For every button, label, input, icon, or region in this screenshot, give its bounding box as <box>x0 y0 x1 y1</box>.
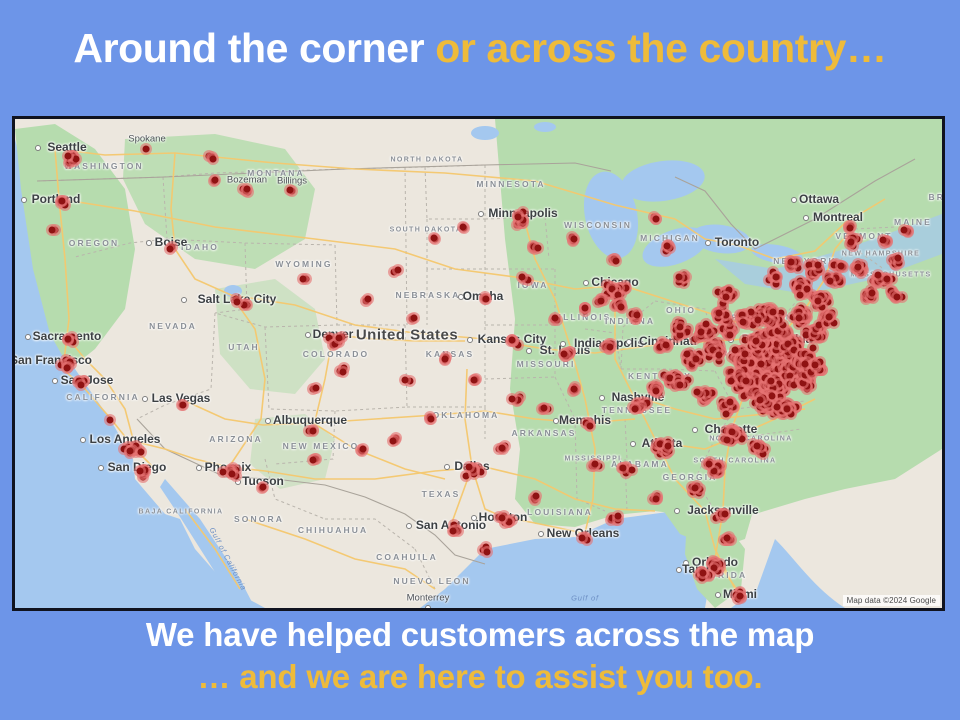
map-customer-pin[interactable] <box>705 461 712 468</box>
map-customer-pin[interactable] <box>711 565 718 572</box>
map-customer-pin[interactable] <box>721 510 728 517</box>
map-city-dot <box>305 332 311 338</box>
map-city-dot <box>471 515 477 521</box>
map-customer-pin[interactable] <box>515 213 522 220</box>
map-customer-pin[interactable] <box>814 297 821 304</box>
map-customer-pin[interactable] <box>848 239 855 246</box>
map-customer-pin[interactable] <box>831 320 838 327</box>
map-customer-pin[interactable] <box>722 294 729 301</box>
map-customer-pin[interactable] <box>64 336 71 343</box>
map-customer-pin[interactable] <box>657 440 664 447</box>
map-customer-pin[interactable] <box>551 315 558 322</box>
map-customer-pin[interactable] <box>684 351 691 358</box>
map-customer-pin[interactable] <box>741 393 748 400</box>
map-customer-pin[interactable] <box>727 378 734 385</box>
map-customer-pin[interactable] <box>790 382 797 389</box>
map-customer-pin[interactable] <box>534 244 541 251</box>
map-customer-pin[interactable] <box>505 519 512 526</box>
map-customer-pin[interactable] <box>728 429 735 436</box>
map-customer-pin[interactable] <box>628 467 635 474</box>
map-customer-pin[interactable] <box>774 327 781 334</box>
map-customer-pin[interactable] <box>697 328 704 335</box>
map-customer-pin[interactable] <box>462 472 469 479</box>
map-city-dot <box>98 465 104 471</box>
map-customer-pin[interactable] <box>310 456 317 463</box>
map-customer-pin[interactable] <box>665 442 672 449</box>
map-customer-pin[interactable] <box>760 450 767 457</box>
map-customer-pin[interactable] <box>693 389 700 396</box>
map-customer-pin[interactable] <box>260 484 267 491</box>
map-customer-pin[interactable] <box>515 397 522 404</box>
map-customer-pin[interactable] <box>608 285 615 292</box>
map-city-dot <box>181 297 187 303</box>
map-customer-pin[interactable] <box>478 468 485 475</box>
map-customer-pin[interactable] <box>741 351 748 358</box>
map-customer-pin[interactable] <box>901 227 908 234</box>
map-customer-pin[interactable] <box>778 309 785 316</box>
map-customer-pin[interactable] <box>769 384 776 391</box>
map-customer-pin[interactable] <box>126 448 133 455</box>
map-customer-pin[interactable] <box>893 293 900 300</box>
map-customer-pin[interactable] <box>676 382 683 389</box>
map-customer-pin[interactable] <box>229 471 236 478</box>
map-customer-pin[interactable] <box>716 310 723 317</box>
map-customer-pin[interactable] <box>652 216 659 223</box>
map-customer-pin[interactable] <box>615 292 622 299</box>
map-customer-pin[interactable] <box>724 437 731 444</box>
map-customer-pin[interactable] <box>722 410 729 417</box>
map-customer-pin[interactable] <box>471 376 478 383</box>
map-customer-pin[interactable] <box>784 406 791 413</box>
map-customer-pin[interactable] <box>795 285 802 292</box>
map-customer-pin[interactable] <box>541 405 548 412</box>
map-customer-pin[interactable] <box>582 304 589 311</box>
map-city-dot <box>599 395 605 401</box>
map-customer-pin[interactable] <box>137 449 144 456</box>
map-customer-pin[interactable] <box>740 357 747 364</box>
map-customer-pin[interactable] <box>498 445 505 452</box>
map-customer-pin[interactable] <box>466 464 473 471</box>
map-customer-pin[interactable] <box>755 316 762 323</box>
map-customer-pin[interactable] <box>710 468 717 475</box>
map-customer-pin[interactable] <box>879 237 886 244</box>
map-customer-pin[interactable] <box>837 262 844 269</box>
map-customer-pin[interactable] <box>884 275 891 282</box>
map-customer-pin[interactable] <box>313 384 320 391</box>
map-customer-pin[interactable] <box>776 381 783 388</box>
map-city-dot <box>142 396 148 402</box>
map-customer-pin[interactable] <box>747 309 754 316</box>
map-city-dot <box>583 280 589 286</box>
map-city-dot <box>692 427 698 433</box>
map-customer-pin[interactable] <box>784 340 791 347</box>
map-customer-pin[interactable] <box>753 442 760 449</box>
map-customer-pin[interactable] <box>401 376 408 383</box>
map-customer-pin[interactable] <box>723 535 730 542</box>
map-customer-pin[interactable] <box>212 177 219 184</box>
map-customer-pin[interactable] <box>802 332 809 339</box>
map-customer-pin[interactable] <box>78 382 85 389</box>
map-customer-pin[interactable] <box>633 312 640 319</box>
map-customer-pin[interactable] <box>814 262 821 269</box>
map-customer-pin[interactable] <box>59 197 66 204</box>
map-customer-pin[interactable] <box>664 242 671 249</box>
map-customer-pin[interactable] <box>299 276 306 283</box>
headline-gold-part: or across the country… <box>435 25 886 71</box>
map-customer-pin[interactable] <box>483 295 490 302</box>
map-customer-pin[interactable] <box>219 468 226 475</box>
map-customer-pin[interactable] <box>460 223 467 230</box>
map-city-dot <box>626 339 632 345</box>
map-customer-pin[interactable] <box>773 404 780 411</box>
map-customer-pin[interactable] <box>727 332 734 339</box>
map-customer-pin[interactable] <box>740 319 747 326</box>
map-customer-pin[interactable] <box>739 312 746 319</box>
map-customer-pin[interactable] <box>773 273 780 280</box>
map-customer-pin[interactable] <box>709 389 716 396</box>
map-customer-pin[interactable] <box>309 427 316 434</box>
footer-text-block: We have helped customers across the map … <box>0 614 960 698</box>
map-customer-pin[interactable] <box>442 355 449 362</box>
map-customer-pin[interactable] <box>532 493 539 500</box>
map-customer-pin[interactable] <box>854 263 861 270</box>
map-customer-pin[interactable] <box>737 592 744 599</box>
map-customer-pin[interactable] <box>509 396 516 403</box>
footer-line-2: … and we are here to assist you too. <box>0 656 960 698</box>
map-customer-pin[interactable] <box>748 360 755 367</box>
map-customer-pin[interactable] <box>623 285 630 292</box>
map-customer-pin[interactable] <box>48 226 55 233</box>
map-customer-pin[interactable] <box>234 298 241 305</box>
map-customer-pin[interactable] <box>700 569 707 576</box>
map-city-dot <box>235 479 241 485</box>
map-city-dot <box>196 465 202 471</box>
map-customer-pin[interactable] <box>652 388 659 395</box>
map-customer-pin[interactable] <box>704 327 711 334</box>
map-customer-pin[interactable] <box>819 303 826 310</box>
map-attribution: Map data ©2024 Google <box>843 595 940 606</box>
map-city-dot <box>458 294 464 300</box>
map-customer-pin[interactable] <box>677 331 684 338</box>
map-customer-pin[interactable] <box>773 280 780 287</box>
map-customer-pin[interactable] <box>796 314 803 321</box>
map-city-dot <box>35 145 41 151</box>
slide: Around the corner or across the country… <box>0 0 960 720</box>
map-customer-pin[interactable] <box>607 344 614 351</box>
map-customer-pin[interactable] <box>800 380 807 387</box>
map-customer-pin[interactable] <box>723 311 730 318</box>
map-customer-pin[interactable] <box>72 156 79 163</box>
map-city-dot <box>478 211 484 217</box>
map-customer-pin[interactable] <box>578 535 585 542</box>
map-customer-pin[interactable] <box>868 290 875 297</box>
map-customer-pin[interactable] <box>875 272 882 279</box>
map-customer-pin[interactable] <box>666 374 673 381</box>
map-customer-pin[interactable] <box>753 337 760 344</box>
map-customer-pin[interactable] <box>287 186 294 193</box>
map-customer-pin[interactable] <box>483 549 490 556</box>
map-customer-pin[interactable] <box>394 266 401 273</box>
map-customer-pin[interactable] <box>498 514 505 521</box>
map-customer-pin[interactable] <box>769 392 776 399</box>
map-customer-pin[interactable] <box>65 152 72 159</box>
map-customer-pin[interactable] <box>738 436 745 443</box>
map-customer-pin[interactable] <box>816 322 823 329</box>
map-customer-pin[interactable] <box>359 446 366 453</box>
map-customer-pin[interactable] <box>827 278 834 285</box>
map-customer-pin[interactable] <box>692 356 699 363</box>
map-customer-pin[interactable] <box>63 365 70 372</box>
map-customer-pin[interactable] <box>826 314 833 321</box>
map-customer-pin[interactable] <box>652 496 659 503</box>
map-customer-pin[interactable] <box>365 296 372 303</box>
map-customer-pin[interactable] <box>571 386 578 393</box>
map-customer-pin[interactable] <box>691 484 698 491</box>
map-customer-pin[interactable] <box>617 304 624 311</box>
map-customer-pin[interactable] <box>725 287 732 294</box>
map-city-dot <box>705 240 711 246</box>
map-customer-pin[interactable] <box>241 301 248 308</box>
map-customer-pin[interactable] <box>336 335 343 342</box>
map-customer-pin[interactable] <box>663 342 670 349</box>
map-city-dot <box>80 437 86 443</box>
map-customer-pin[interactable] <box>773 340 780 347</box>
map-customer-pin[interactable] <box>613 258 620 265</box>
map-customer-pin[interactable] <box>325 334 332 341</box>
map-customer-pin[interactable] <box>787 373 794 380</box>
map-customer-pin[interactable] <box>167 246 174 253</box>
map-customer-pin[interactable] <box>773 346 780 353</box>
map-city-dot <box>553 418 559 424</box>
map-customer-pin[interactable] <box>768 378 775 385</box>
map-city-dot <box>52 378 58 384</box>
map-customer-pin[interactable] <box>742 336 749 343</box>
map-city-dot <box>265 418 271 424</box>
page-title: Around the corner or across the country… <box>0 26 960 70</box>
map-customer-pin[interactable] <box>592 460 599 467</box>
map-customer-pin[interactable] <box>431 235 438 242</box>
map-customer-pin[interactable] <box>788 259 795 266</box>
map-customer-pin[interactable] <box>743 377 750 384</box>
map-customer-pin[interactable] <box>802 360 809 367</box>
map-container[interactable]: WASHINGTONOREGONIDAHOMONTANAWYOMINGNEVAD… <box>12 116 945 611</box>
map-customer-pin[interactable] <box>794 264 801 271</box>
map-city-dot <box>630 441 636 447</box>
map-customer-pin[interactable] <box>340 369 347 376</box>
map-customer-pin[interactable] <box>509 336 516 343</box>
map-customer-pin[interactable] <box>586 422 593 429</box>
map-customer-pin[interactable] <box>620 464 627 471</box>
map-customer-pin[interactable] <box>411 315 418 322</box>
map-customer-pin[interactable] <box>715 289 722 296</box>
map-customer-pin[interactable] <box>727 398 734 405</box>
map-city-dot <box>146 240 152 246</box>
map-city-dot <box>676 567 682 573</box>
map-city-dot <box>674 508 680 514</box>
map-customer-pin[interactable] <box>244 185 251 192</box>
map-customer-pin[interactable] <box>796 292 803 299</box>
map-customer-pin[interactable] <box>390 438 397 445</box>
map-city-dot <box>803 215 809 221</box>
map-customer-pin[interactable] <box>756 396 763 403</box>
map-customer-pin[interactable] <box>806 262 813 269</box>
map-customer-pin[interactable] <box>847 225 854 232</box>
map-customer-pin[interactable] <box>757 361 764 368</box>
map-city-dot <box>715 592 721 598</box>
map-customer-pin[interactable] <box>643 400 650 407</box>
map-customer-pin[interactable] <box>715 352 722 359</box>
map-city-dot <box>791 197 797 203</box>
map-city-dot <box>538 531 544 537</box>
headline-white-part: Around the corner <box>73 25 435 71</box>
map-customer-pin[interactable] <box>684 328 691 335</box>
map-city-dot <box>25 334 31 340</box>
map-city-dot <box>444 464 450 470</box>
map-city-dot <box>560 341 566 347</box>
map-city-dot <box>467 337 473 343</box>
map-customer-pin[interactable] <box>811 361 818 368</box>
map-customer-pin[interactable] <box>597 297 604 304</box>
map-customer-pin[interactable] <box>770 308 777 315</box>
map-customer-pin[interactable] <box>790 347 797 354</box>
map-customer-pin[interactable] <box>894 255 901 262</box>
map-city-dot <box>21 197 27 203</box>
map-customer-pin[interactable] <box>560 351 567 358</box>
map-city-dot <box>526 348 532 354</box>
map-customer-pin[interactable] <box>702 321 709 328</box>
map-customer-pin[interactable] <box>632 406 639 413</box>
map-customer-pin[interactable] <box>731 346 738 353</box>
map-city-dot <box>683 560 689 566</box>
map-customer-pin[interactable] <box>450 528 457 535</box>
map-canvas[interactable]: WASHINGTONOREGONIDAHOMONTANAWYOMINGNEVAD… <box>15 119 942 608</box>
footer-line-1: We have helped customers across the map <box>0 614 960 656</box>
map-customer-pin[interactable] <box>676 274 683 281</box>
map-city-dot <box>425 605 431 608</box>
map-customer-pin[interactable] <box>136 468 143 475</box>
map-customer-pin[interactable] <box>677 324 684 331</box>
map-customer-pin[interactable] <box>809 344 816 351</box>
map-customer-pin[interactable] <box>143 146 150 153</box>
map-customer-pin[interactable] <box>519 274 526 281</box>
map-customer-pin[interactable] <box>759 341 766 348</box>
map-customer-pin[interactable] <box>107 416 114 423</box>
map-customer-pin[interactable] <box>209 155 216 162</box>
map-customer-pin[interactable] <box>427 415 434 422</box>
map-customer-pin[interactable] <box>180 402 187 409</box>
map-city-dot <box>406 523 412 529</box>
map-customer-pin[interactable] <box>571 235 578 242</box>
map-customer-pin[interactable] <box>804 286 811 293</box>
map-customer-pin[interactable] <box>615 513 622 520</box>
